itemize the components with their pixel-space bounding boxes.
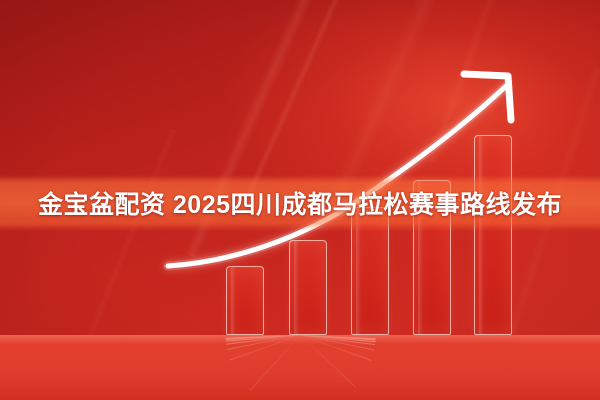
page-title: 金宝盆配资 2025四川成都马拉松赛事路线发布 — [0, 175, 600, 231]
promo-banner: 金宝盆配资 2025四川成都马拉松赛事路线发布 — [0, 0, 600, 400]
